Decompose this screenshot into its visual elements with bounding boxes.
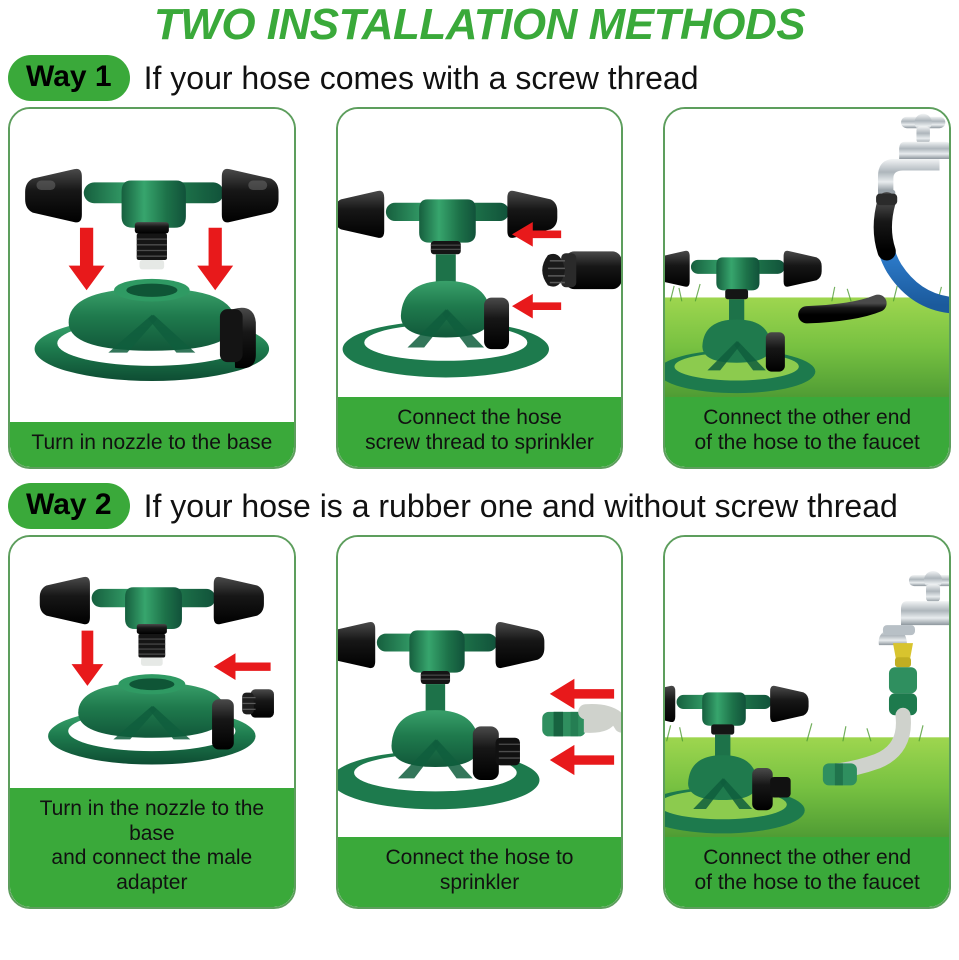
panel-turn-nozzle-and-male-adapter: Turn in the nozzle to the base and conne… — [8, 535, 296, 909]
panel-connect-hose-to-faucet: Connect the other end of the hose to the… — [663, 107, 951, 469]
way-2-panels: Turn in the nozzle to the base and conne… — [0, 535, 959, 909]
caption-line-1: Connect the other end — [703, 406, 911, 429]
faucet-icon — [878, 114, 949, 200]
caption-line-1: Turn in nozzle to the base — [31, 431, 272, 454]
illustration-connect-hose-to-sprinkler — [338, 537, 622, 837]
sprinkler-icon — [665, 109, 949, 397]
illustration-other-end-to-faucet — [665, 537, 949, 837]
arrow-down-icon — [72, 631, 104, 686]
arrow-left-icon — [214, 653, 271, 680]
way-2-badge: Way 2 — [8, 483, 130, 529]
illustration-hose-to-faucet — [665, 109, 949, 397]
sprinkler-icon — [338, 109, 622, 397]
sprinkler-icon — [338, 537, 622, 837]
way-1-badge: Way 1 — [8, 55, 130, 101]
sprinkler-icon — [10, 537, 294, 788]
panel-connect-other-end-to-faucet: Connect the other end of the hose to the… — [663, 535, 951, 909]
caption-panel-4: Turn in the nozzle to the base and conne… — [10, 788, 294, 907]
sprinkler-icon — [665, 537, 949, 837]
caption-line-2: of the hose to the faucet — [671, 431, 943, 456]
adapter-yellow — [893, 643, 913, 659]
infographic-page: TWO INSTALLATION METHODS Way 1 If your h… — [0, 0, 959, 960]
page-title: TWO INSTALLATION METHODS — [0, 0, 959, 47]
hose-connector-icon — [542, 712, 621, 737]
panel-connect-hose-to-sprinkler: Connect the hose to sprinkler — [336, 535, 624, 909]
caption-line-1: Turn in the nozzle to the base — [40, 797, 265, 845]
way-1-header: Way 1 If your hose comes with a screw th… — [0, 47, 959, 107]
hose-connector-icon — [542, 251, 621, 289]
hose-connector-icon — [242, 689, 274, 717]
caption-panel-3: Connect the other end of the hose to the… — [665, 397, 949, 467]
caption-line-1: Connect the hose to sprinkler — [386, 846, 574, 894]
caption-panel-5: Connect the hose to sprinkler — [338, 837, 622, 907]
illustration-sprinkler-exploded — [10, 109, 294, 422]
caption-panel-2: Connect the hose screw thread to sprinkl… — [338, 397, 622, 467]
way-1-panels: Turn in nozzle to the base — [0, 107, 959, 469]
sprinkler-icon — [10, 109, 294, 422]
way-2-heading: If your hose is a rubber one and without… — [144, 488, 898, 525]
caption-line-1: Connect the hose — [397, 406, 562, 429]
illustration-nozzle-and-male-adapter — [10, 537, 294, 788]
caption-line-1: Connect the other end — [703, 846, 911, 869]
caption-panel-6: Connect the other end of the hose to the… — [665, 837, 949, 907]
illustration-hose-screw-thread — [338, 109, 622, 397]
panel-turn-nozzle-to-base: Turn in nozzle to the base — [8, 107, 296, 469]
caption-line-2: of the hose to the faucet — [671, 871, 943, 896]
panel-connect-hose-screw-thread: Connect the hose screw thread to sprinkl… — [336, 107, 624, 469]
way-2-header: Way 2 If your hose is a rubber one and w… — [0, 475, 959, 535]
way-1-heading: If your hose comes with a screw thread — [144, 60, 699, 97]
caption-line-2: and connect the male adapter — [16, 846, 288, 896]
faucet-icon — [879, 571, 949, 667]
caption-line-2: screw thread to sprinkler — [344, 431, 616, 456]
caption-panel-1: Turn in nozzle to the base — [10, 422, 294, 467]
